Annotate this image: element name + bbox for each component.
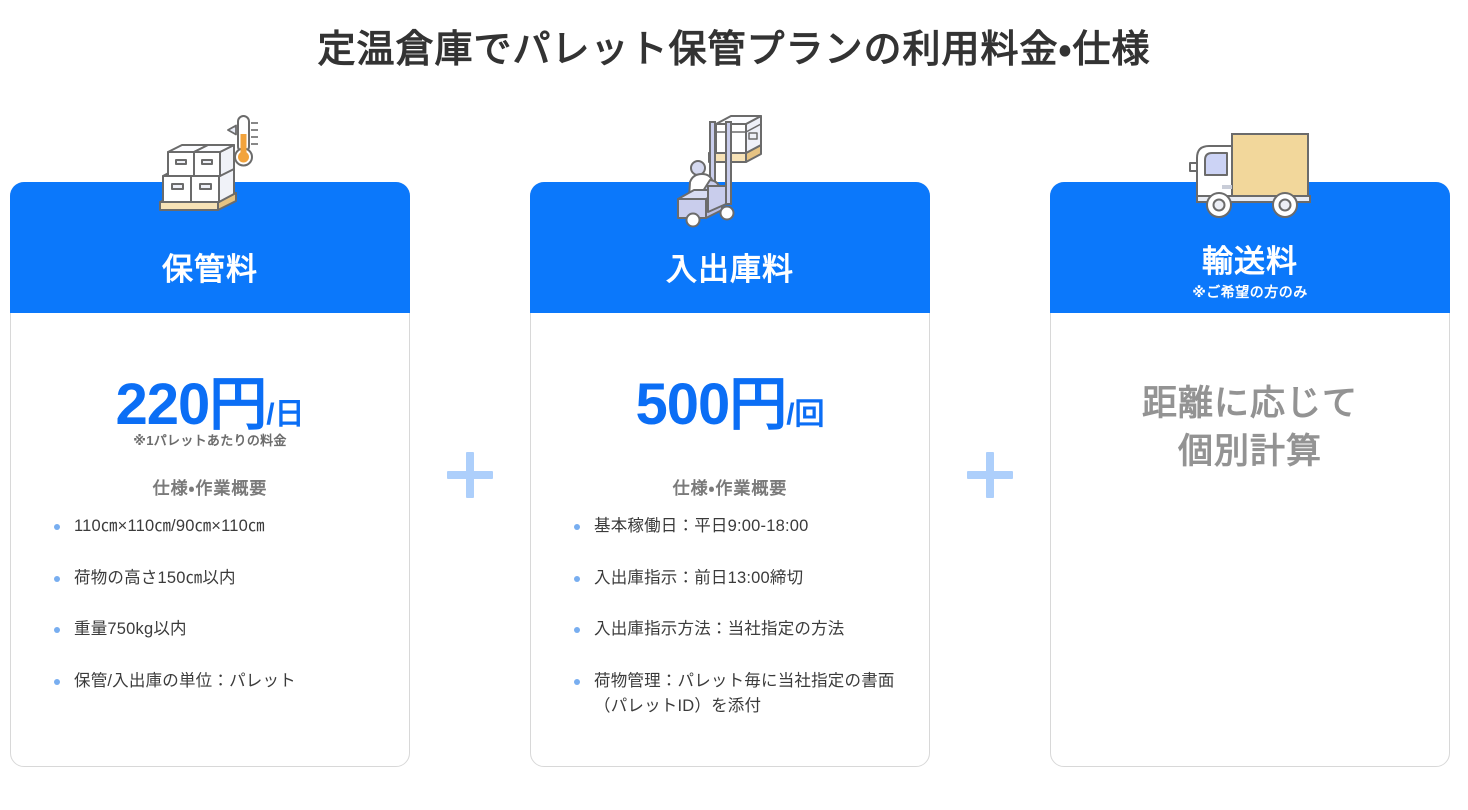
price-unit: /日 [266,398,304,431]
spec-list: 110㎝×110㎝/90㎝×110㎝ 荷物の高さ150㎝以内 重量750kg以内… [48,514,393,720]
transport-pricing-note: 距離に応じて個別計算 [1050,380,1450,477]
card-header: 入出庫料 [530,182,930,313]
spec-item: 基本稼働日：平日9:00-18:00 [568,514,913,540]
card-header: 輸送料 ※ご希望の方のみ [1050,182,1450,313]
price-row: 500円/回 [530,357,930,441]
price-amount: 220円 [115,372,266,437]
delivery-truck-icon [1050,120,1450,240]
bullet-icon [574,576,580,582]
spec-text: 保管/入出庫の単位：パレット [74,672,296,690]
spec-text: 荷物管理：パレット毎に当社指定の書面（パレットID）を添付 [594,672,895,716]
spec-text: 荷物の高さ150㎝以内 [74,569,236,587]
spec-item: 保管/入出庫の単位：パレット [48,669,393,695]
spec-item: 110㎝×110㎝/90㎝×110㎝ [48,514,393,540]
spec-item: 荷物の高さ150㎝以内 [48,566,393,592]
bullet-icon [574,627,580,633]
pricing-card-inbound-outbound-fee: 入出庫料 500円/回 仕様・作業概要 基本稼働日：平日9:00-18:00 入… [530,182,930,767]
bullet-icon [54,524,60,530]
card-subtitle: ※ご希望の方のみ [1050,282,1450,302]
card-header: 保管料 [10,182,410,313]
spec-text: 入出庫指示：前日13:00締切 [594,569,803,587]
transport-pricing-note-line: 距離に応じて [1142,384,1358,423]
spec-item: 入出庫指示方法：当社指定の方法 [568,617,913,643]
spec-text: 110㎝×110㎝/90㎝×110㎝ [74,517,265,535]
card-title: 輸送料 [1050,236,1450,281]
spec-heading: 仕様・作業概要 [530,474,930,499]
card-title: 入出庫料 [530,244,930,289]
plus-separator-2 [967,452,1013,498]
bullet-icon [54,627,60,633]
bullet-icon [54,576,60,582]
plus-separator-1 [447,452,493,498]
spec-text: 基本稼働日：平日9:00-18:00 [594,517,809,535]
transport-pricing-note-line: 個別計算 [1178,432,1322,471]
spec-text: 重量750kg以内 [74,620,187,638]
forklift-pallet-icon [530,100,930,220]
price-amount: 500円 [635,372,786,437]
pricing-card-transport-fee: 輸送料 ※ご希望の方のみ 距離に応じて個別計算 [1050,182,1450,767]
spec-heading: 仕様・作業概要 [10,474,410,499]
bullet-icon [54,679,60,685]
spec-item: 入出庫指示：前日13:00締切 [568,566,913,592]
pricing-cards: 保管料 220円/日 ※1パレットあたりの料金 仕様・作業概要 110㎝×110… [0,0,1468,810]
price-unit: /回 [786,398,824,431]
price-row: 220円/日 [10,357,410,441]
pallet-boxes-thermometer-icon [10,110,410,230]
price-note: ※1パレットあたりの料金 [10,430,410,449]
spec-list: 基本稼働日：平日9:00-18:00 入出庫指示：前日13:00締切 入出庫指示… [568,514,913,746]
spec-item: 重量750kg以内 [48,617,393,643]
pricing-card-storage-fee: 保管料 220円/日 ※1パレットあたりの料金 仕様・作業概要 110㎝×110… [10,182,410,767]
spec-item: 荷物管理：パレット毎に当社指定の書面（パレットID）を添付 [568,669,913,720]
spec-text: 入出庫指示方法：当社指定の方法 [594,620,845,638]
card-title: 保管料 [10,244,410,289]
bullet-icon [574,679,580,685]
bullet-icon [574,524,580,530]
